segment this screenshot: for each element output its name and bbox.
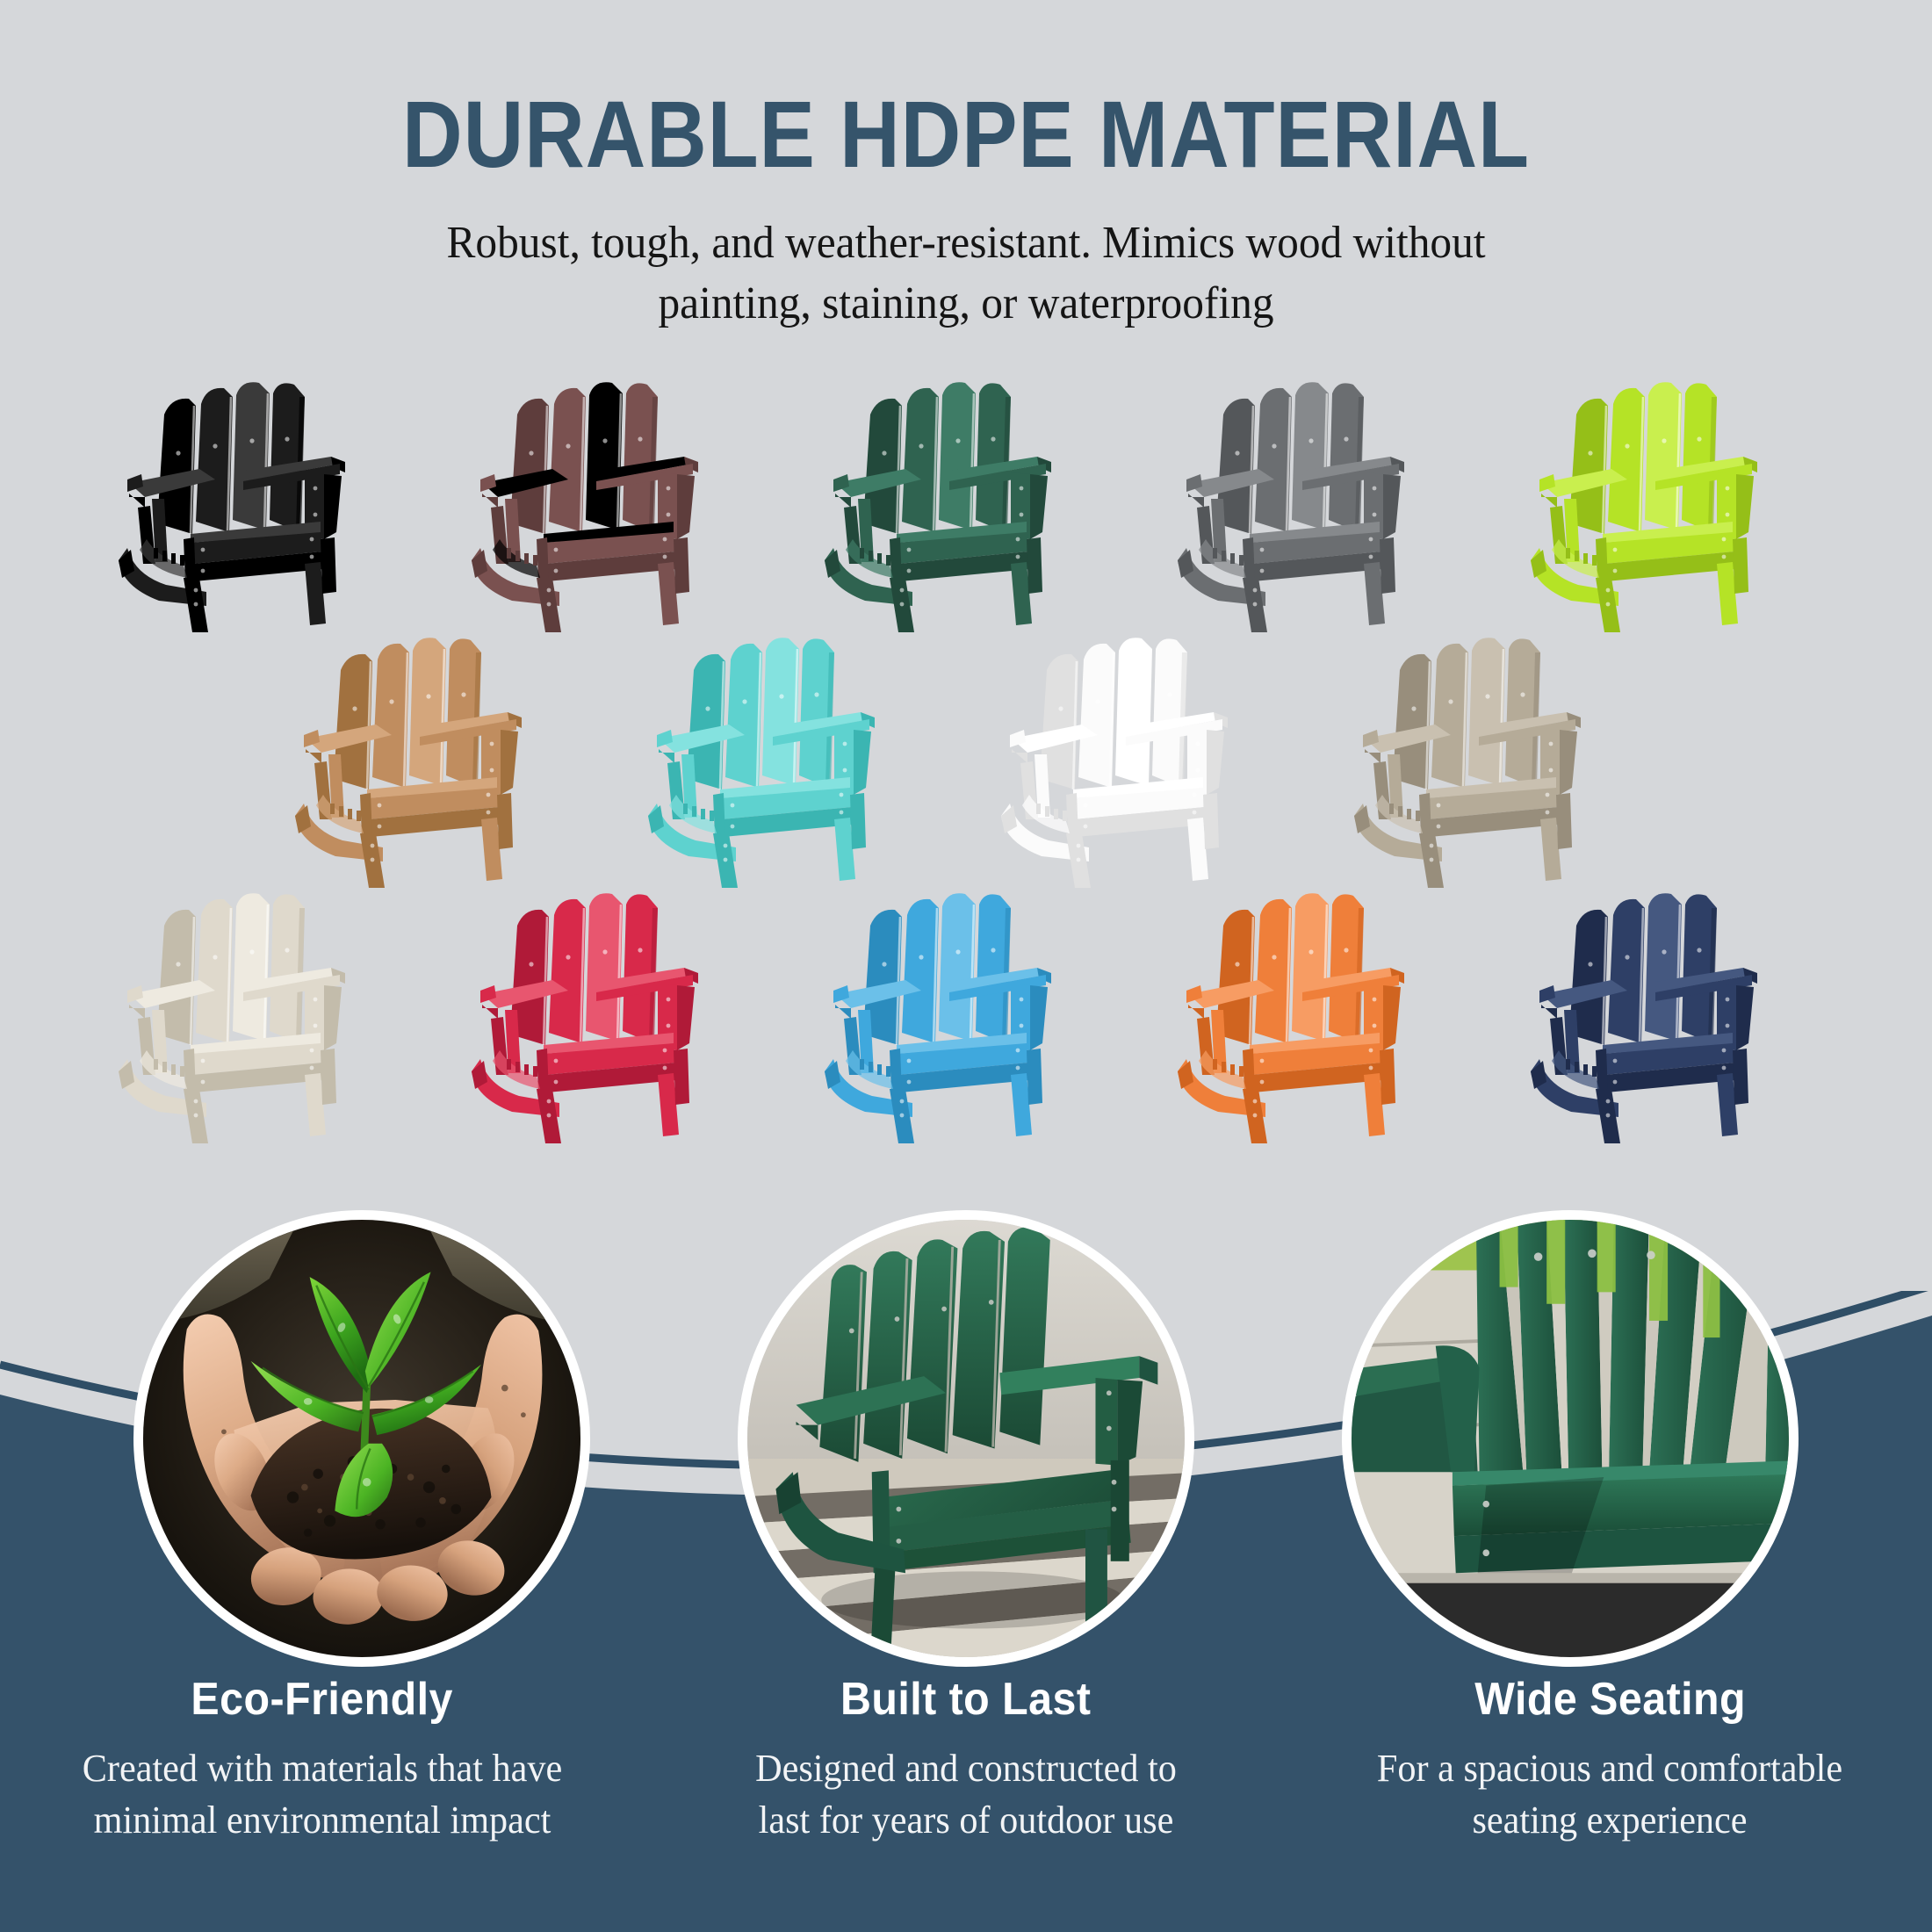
header-block: DURABLE HDPE MATERIAL Robust, tough, and… xyxy=(0,0,1932,335)
swatch-row-1 xyxy=(0,373,1932,632)
feature-built-to-last: Built to Last Designed and constructed t… xyxy=(644,1673,1287,1846)
chair-swatch-brown[interactable] xyxy=(446,373,780,632)
chair-swatch-taupe[interactable] xyxy=(1329,629,1662,888)
chair-swatch-lime-green[interactable] xyxy=(1505,373,1839,632)
chair-swatch-sky-blue[interactable] xyxy=(799,884,1133,1143)
feature-body-line-1: Designed and constructed to xyxy=(755,1747,1177,1790)
feature-image-built-to-last xyxy=(738,1210,1194,1667)
chair-swatch-navy[interactable] xyxy=(1505,884,1839,1143)
feature-eco-friendly: Eco-Friendly Created with materials that… xyxy=(0,1673,644,1846)
feature-wide-seating: Wide Seating For a spacious and comforta… xyxy=(1288,1673,1932,1846)
feature-body-line-2: seating experience xyxy=(1473,1799,1748,1842)
chair-swatch-black[interactable] xyxy=(93,373,427,632)
feature-body-line-1: For a spacious and comfortable xyxy=(1377,1747,1842,1790)
chair-swatch-dark-green[interactable] xyxy=(799,373,1133,632)
infographic-canvas: DURABLE HDPE MATERIAL Robust, tough, and… xyxy=(0,0,1932,1932)
subtitle-line-1: Robust, tough, and weather-resistant. Mi… xyxy=(315,213,1617,274)
subtitle-line-2: painting, staining, or waterproofing xyxy=(315,274,1617,335)
feature-body: Created with materials that have minimal… xyxy=(44,1743,601,1846)
swatch-row-2 xyxy=(0,629,1932,888)
chair-swatch-red[interactable] xyxy=(446,884,780,1143)
chair-swatch-gray[interactable] xyxy=(1152,373,1486,632)
feature-image-wide-seating xyxy=(1342,1210,1799,1667)
chair-swatch-turquoise[interactable] xyxy=(623,629,956,888)
feature-image-row xyxy=(0,1210,1932,1702)
feature-heading: Built to Last xyxy=(667,1673,1265,1726)
feature-body: Designed and constructed to last for yea… xyxy=(688,1743,1244,1846)
chair-swatch-orange[interactable] xyxy=(1152,884,1486,1143)
chair-swatch-teak[interactable] xyxy=(270,629,603,888)
subtitle: Robust, tough, and weather-resistant. Mi… xyxy=(315,213,1617,334)
color-swatch-grid xyxy=(0,373,1932,1143)
feature-image-eco-friendly xyxy=(133,1210,590,1667)
page-title: DURABLE HDPE MATERIAL xyxy=(116,0,1816,184)
feature-heading: Wide Seating xyxy=(1310,1673,1909,1726)
swatch-row-3 xyxy=(0,884,1932,1143)
feature-body-line-1: Created with materials that have xyxy=(82,1747,562,1790)
feature-text-row: Eco-Friendly Created with materials that… xyxy=(0,1673,1932,1846)
feature-body-line-2: minimal environmental impact xyxy=(93,1799,551,1842)
feature-body: For a spacious and comfortable seating e… xyxy=(1332,1743,1889,1846)
chair-swatch-ivory[interactable] xyxy=(93,884,427,1143)
chair-swatch-white[interactable] xyxy=(976,629,1309,888)
feature-body-line-2: last for years of outdoor use xyxy=(759,1799,1174,1842)
feature-heading: Eco-Friendly xyxy=(23,1673,622,1726)
